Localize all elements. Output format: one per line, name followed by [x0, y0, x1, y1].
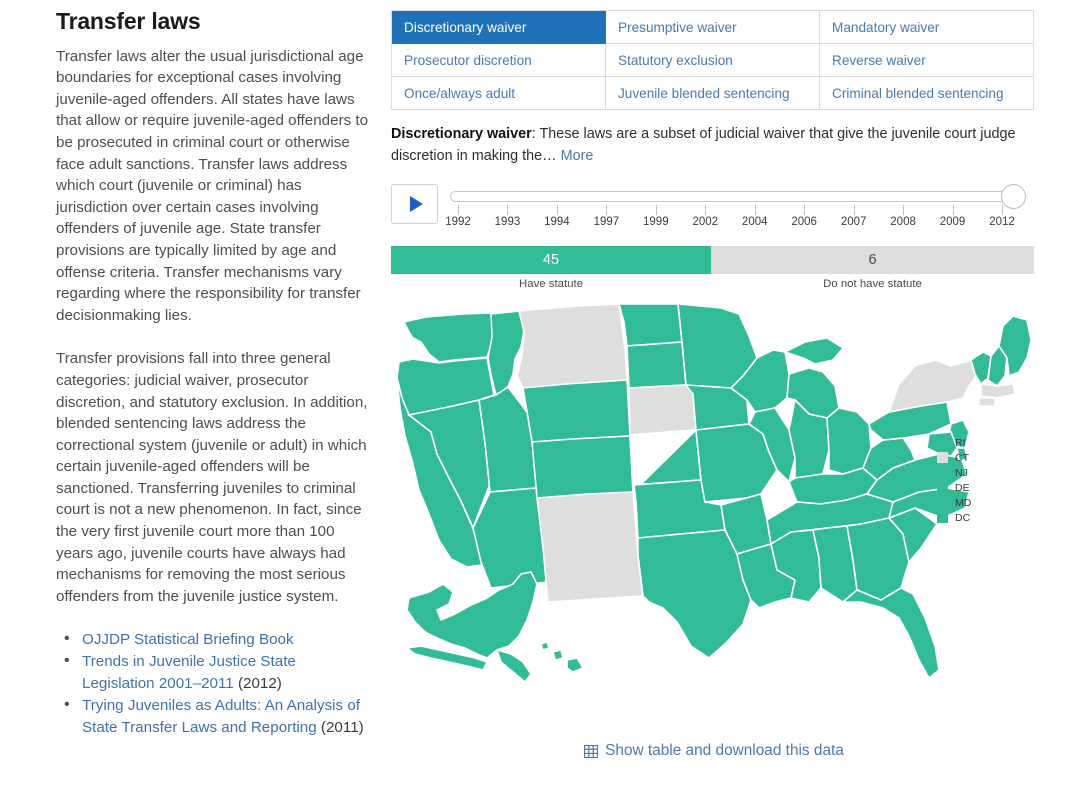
- legend-row-dc[interactable]: DC: [937, 510, 1007, 525]
- have-statute-label: Have statute: [391, 278, 711, 290]
- page-root: Transfer laws Transfer laws alter the us…: [0, 0, 1076, 811]
- reference-list: OJJDP Statistical Briefing Book Trends i…: [56, 629, 370, 739]
- state-ND[interactable]: [619, 304, 682, 346]
- show-table-link[interactable]: Show table and download this data: [605, 742, 844, 760]
- tick-mark-1999: [656, 205, 657, 215]
- tick-label-1999[interactable]: 1999: [643, 216, 669, 228]
- tab-prosecutor-discretion[interactable]: Prosecutor discretion: [392, 44, 606, 77]
- play-icon: [410, 196, 423, 212]
- list-item: Trying Juveniles as Adults: An Analysis …: [56, 695, 370, 739]
- timeline-control: 1992199319941997199920022004200620072008…: [391, 184, 1037, 236]
- state-HI-3[interactable]: [567, 658, 583, 672]
- tick-mark-1994: [557, 205, 558, 215]
- legend-row-de[interactable]: DE: [937, 480, 1007, 495]
- state-AK-tail[interactable]: [497, 650, 531, 682]
- list-item: Trends in Juvenile Justice State Legisla…: [56, 651, 370, 695]
- state-SD[interactable]: [627, 342, 686, 388]
- description-term: Discretionary waiver: [391, 126, 532, 142]
- tick-mark-2012: [1002, 205, 1003, 215]
- tick-label-2002[interactable]: 2002: [692, 216, 718, 228]
- reference-link-1[interactable]: OJJDP Statistical Briefing Book: [82, 631, 294, 648]
- state-AK[interactable]: [407, 572, 537, 658]
- legend-row-ct[interactable]: CT: [937, 450, 1007, 465]
- state-WA[interactable]: [404, 313, 494, 362]
- tick-label-2007[interactable]: 2007: [841, 216, 867, 228]
- legend-label-md: MD: [955, 497, 971, 509]
- state-HI-2[interactable]: [553, 650, 563, 660]
- legend-row-nj[interactable]: NJ: [937, 465, 1007, 480]
- legend-label-ri: RI: [955, 437, 966, 449]
- state-MA[interactable]: [981, 384, 1015, 398]
- legend-swatch-ct: [937, 452, 948, 463]
- have-statute-segment[interactable]: 45: [391, 246, 711, 274]
- tick-mark-1993: [507, 205, 508, 215]
- state-AZ[interactable]: [473, 488, 548, 588]
- show-table-row: Show table and download this data: [391, 742, 1037, 760]
- article-column: Transfer laws Transfer laws alter the us…: [56, 8, 370, 808]
- tab-criminal-blended-sentencing[interactable]: Criminal blended sentencing: [820, 77, 1034, 110]
- no-statute-label: Do not have statute: [711, 278, 1034, 290]
- slider-handle[interactable]: [1001, 184, 1026, 209]
- legend-swatch-dc: [937, 512, 948, 523]
- legend-row-ri[interactable]: RI: [937, 435, 1007, 450]
- tab-reverse-waiver[interactable]: Reverse waiver: [820, 44, 1034, 77]
- article-paragraph-2: Transfer provisions fall into three gene…: [56, 348, 370, 607]
- legend-swatch-nj: [937, 467, 948, 478]
- tick-label-1994[interactable]: 1994: [544, 216, 570, 228]
- slider-track[interactable]: [450, 191, 1010, 202]
- list-item: OJJDP Statistical Briefing Book: [56, 629, 370, 651]
- map-legend: RI CT NJ DE MD: [937, 435, 1007, 525]
- tick-label-2012[interactable]: 2012: [989, 216, 1015, 228]
- state-HI[interactable]: [541, 642, 549, 650]
- tick-mark-2006: [804, 205, 805, 215]
- statute-summary-labels: Have statute Do not have statute: [391, 278, 1034, 290]
- tab-juvenile-blended-sentencing[interactable]: Juvenile blended sentencing: [606, 77, 820, 110]
- legend-row-md[interactable]: MD: [937, 495, 1007, 510]
- statute-summary-bar: 45 6: [391, 246, 1034, 274]
- description-block: Discretionary waiver: These laws are a s…: [391, 123, 1031, 167]
- play-button[interactable]: [391, 184, 438, 224]
- article-paragraph-1: Transfer laws alter the usual jurisdicti…: [56, 46, 370, 327]
- state-WY[interactable]: [523, 380, 630, 442]
- tab-discretionary-waiver[interactable]: Discretionary waiver: [392, 11, 606, 44]
- state-MT[interactable]: [517, 304, 627, 388]
- tab-mandatory-waiver[interactable]: Mandatory waiver: [820, 11, 1034, 44]
- us-choropleth-map: RI CT NJ DE MD: [391, 302, 1037, 702]
- no-statute-segment[interactable]: 6: [711, 246, 1034, 274]
- tick-label-2006[interactable]: 2006: [791, 216, 817, 228]
- legend-label-dc: DC: [955, 512, 970, 524]
- tick-mark-2007: [854, 205, 855, 215]
- table-icon: [584, 745, 598, 758]
- tick-label-2009[interactable]: 2009: [940, 216, 966, 228]
- tab-once-always-adult[interactable]: Once/always adult: [392, 77, 606, 110]
- tab-presumptive-waiver[interactable]: Presumptive waiver: [606, 11, 820, 44]
- data-column: Discretionary waiver Presumptive waiver …: [391, 10, 1037, 702]
- page-title: Transfer laws: [56, 8, 370, 36]
- year-slider[interactable]: 1992199319941997199920022004200620072008…: [450, 184, 1023, 236]
- legend-label-de: DE: [955, 482, 970, 494]
- tick-label-1997[interactable]: 1997: [594, 216, 620, 228]
- tick-label-1992[interactable]: 1992: [445, 216, 471, 228]
- tick-mark-2009: [953, 205, 954, 215]
- legend-swatch-ri: [937, 437, 948, 448]
- state-CT[interactable]: [979, 398, 995, 406]
- legend-label-ct: CT: [955, 452, 969, 464]
- state-FL[interactable]: [843, 588, 939, 678]
- state-NE[interactable]: [629, 385, 696, 435]
- state-ID[interactable]: [488, 311, 524, 395]
- state-CO[interactable]: [532, 436, 633, 498]
- law-type-tab-grid: Discretionary waiver Presumptive waiver …: [391, 10, 1034, 110]
- more-link[interactable]: More: [561, 148, 594, 164]
- legend-swatch-de: [937, 482, 948, 493]
- tick-mark-2004: [755, 205, 756, 215]
- legend-label-nj: NJ: [955, 467, 968, 479]
- reference-year-2: (2012): [234, 675, 282, 692]
- tick-mark-1997: [606, 205, 607, 215]
- tick-mark-2008: [903, 205, 904, 215]
- tab-statutory-exclusion[interactable]: Statutory exclusion: [606, 44, 820, 77]
- state-NM[interactable]: [537, 492, 643, 602]
- legend-swatch-md: [937, 497, 948, 508]
- reference-year-3: (2011): [317, 719, 364, 736]
- state-NY[interactable]: [889, 360, 981, 412]
- tick-mark-2002: [705, 205, 706, 215]
- tick-label-1993[interactable]: 1993: [495, 216, 521, 228]
- tick-mark-1992: [458, 205, 459, 215]
- tick-label-2008[interactable]: 2008: [890, 216, 916, 228]
- tick-label-2004[interactable]: 2004: [742, 216, 768, 228]
